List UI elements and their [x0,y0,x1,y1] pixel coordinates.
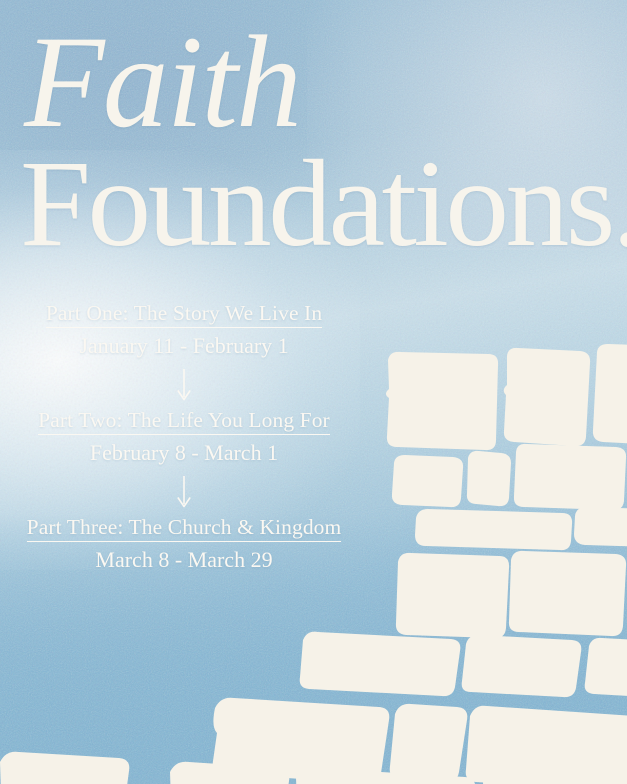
page-title-line-one: Faith [24,16,300,148]
series-part-two-dates: February 8 - March 1 [0,439,368,468]
series-part-one: Part One: The Story We Live In January 1… [0,300,368,361]
page-title-line-two: Foundations. [20,142,627,266]
series-part-three-dates: March 8 - March 29 [0,546,368,575]
series-separator-one [0,361,368,407]
series-part-three-title: Part Three: The Church & Kingdom [27,514,342,542]
series-part-one-dates: January 11 - February 1 [0,332,368,361]
series-separator-two [0,468,368,514]
series-part-two: Part Two: The Life You Long For February… [0,407,368,468]
series-part-two-title: Part Two: The Life You Long For [38,407,330,435]
series-part-one-title: Part One: The Story We Live In [46,300,322,328]
series-schedule-list: Part One: The Story We Live In January 1… [0,300,368,574]
down-arrow-icon [175,369,193,403]
series-part-three: Part Three: The Church & Kingdom March 8… [0,514,368,575]
down-arrow-icon [175,476,193,510]
poster-canvas: Faith Foundations. Part One: The Story W… [0,0,627,784]
